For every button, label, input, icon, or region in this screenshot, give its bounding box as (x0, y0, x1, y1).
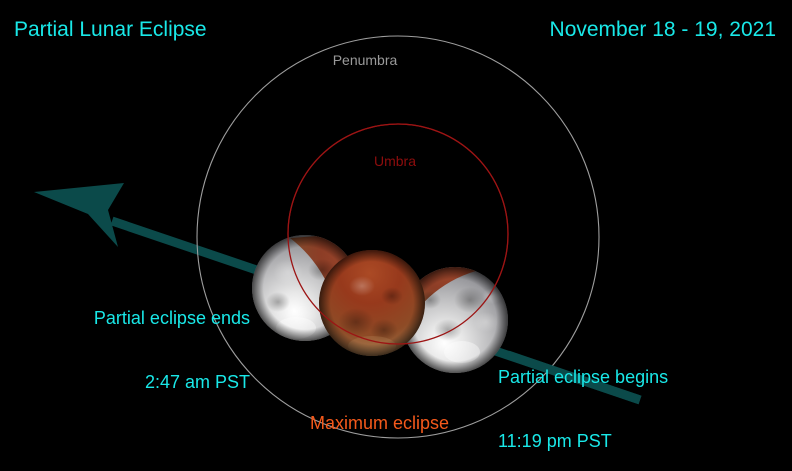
partial-eclipse-begins-time: 11:19 pm PST (498, 431, 713, 452)
maximum-eclipse-name: Maximum eclipse (272, 413, 487, 434)
partial-eclipse-begins-annotation: Partial eclipse begins 11:19 pm PST (498, 325, 713, 471)
umbra-label: Umbra (0, 153, 791, 170)
eclipse-diagram: Partial Lunar Eclipse November 18 - 19, … (0, 0, 792, 471)
partial-eclipse-begins-name: Partial eclipse begins (498, 367, 713, 388)
partial-eclipse-ends-time: 2:47 am PST (60, 372, 250, 393)
penumbra-label: Penumbra (0, 52, 761, 69)
partial-eclipse-ends-annotation: Partial eclipse ends 2:47 am PST (60, 266, 250, 436)
page-title: Partial Lunar Eclipse (14, 18, 207, 43)
partial-eclipse-ends-name: Partial eclipse ends (60, 308, 250, 329)
moon-maximum-eclipse (319, 250, 425, 356)
eclipse-date: November 18 - 19, 2021 (550, 18, 776, 43)
maximum-eclipse-annotation: Maximum eclipse 1:03 am PST (272, 371, 487, 471)
